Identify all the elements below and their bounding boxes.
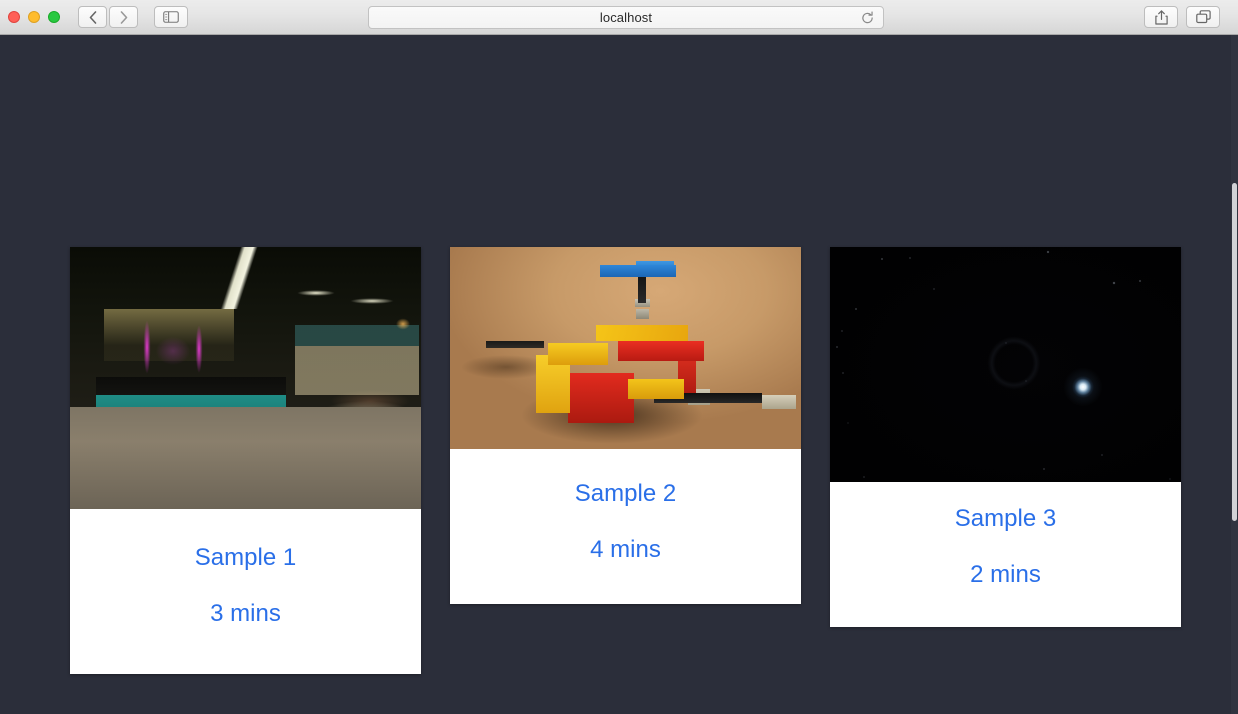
browser-toolbar: localhost: [0, 0, 1238, 35]
share-button[interactable]: [1144, 6, 1178, 28]
card-thumbnail-image[interactable]: [830, 247, 1181, 482]
card-title[interactable]: Sample 1: [70, 545, 421, 571]
card-thumbnail-image[interactable]: [450, 247, 801, 449]
tab-overview-button[interactable]: [1186, 6, 1220, 28]
card-body: Sample 2 4 mins: [450, 449, 801, 604]
sidebar-toggle-group: [154, 6, 188, 28]
window-controls: [8, 11, 60, 23]
scrollbar-thumb[interactable]: [1232, 183, 1237, 521]
card-duration[interactable]: 4 mins: [450, 537, 801, 563]
reload-button[interactable]: [861, 11, 874, 24]
list-item[interactable]: Sample 2 4 mins: [450, 247, 801, 604]
card-body: Sample 1 3 mins: [70, 509, 421, 674]
toolbar-right-buttons: [1144, 6, 1220, 28]
share-icon: [1155, 10, 1168, 25]
forward-button[interactable]: [109, 6, 138, 28]
sidebar-icon: [163, 11, 179, 23]
list-item[interactable]: Sample 1 3 mins: [70, 247, 421, 674]
card-duration[interactable]: 3 mins: [70, 601, 421, 627]
navigation-buttons: [78, 6, 138, 28]
card-title[interactable]: Sample 2: [450, 481, 801, 507]
list-item[interactable]: Sample 3 2 mins: [830, 247, 1181, 627]
card-grid: Sample 1 3 mins Sample 2 4 mins Sample 3…: [70, 247, 1181, 674]
maximize-window-button[interactable]: [48, 11, 60, 23]
card-body: Sample 3 2 mins: [830, 482, 1181, 627]
tabs-icon: [1196, 10, 1211, 24]
back-button[interactable]: [78, 6, 107, 28]
close-window-button[interactable]: [8, 11, 20, 23]
sidebar-toggle-button[interactable]: [154, 6, 188, 28]
card-duration[interactable]: 2 mins: [830, 562, 1181, 588]
vertical-scrollbar[interactable]: [1231, 35, 1238, 714]
minimize-window-button[interactable]: [28, 11, 40, 23]
card-thumbnail-image[interactable]: [70, 247, 421, 509]
page-content: Sample 1 3 mins Sample 2 4 mins Sample 3…: [0, 35, 1238, 714]
reload-icon: [861, 11, 874, 24]
address-text: localhost: [600, 10, 652, 25]
address-bar[interactable]: localhost: [368, 6, 884, 29]
card-title[interactable]: Sample 3: [830, 506, 1181, 532]
